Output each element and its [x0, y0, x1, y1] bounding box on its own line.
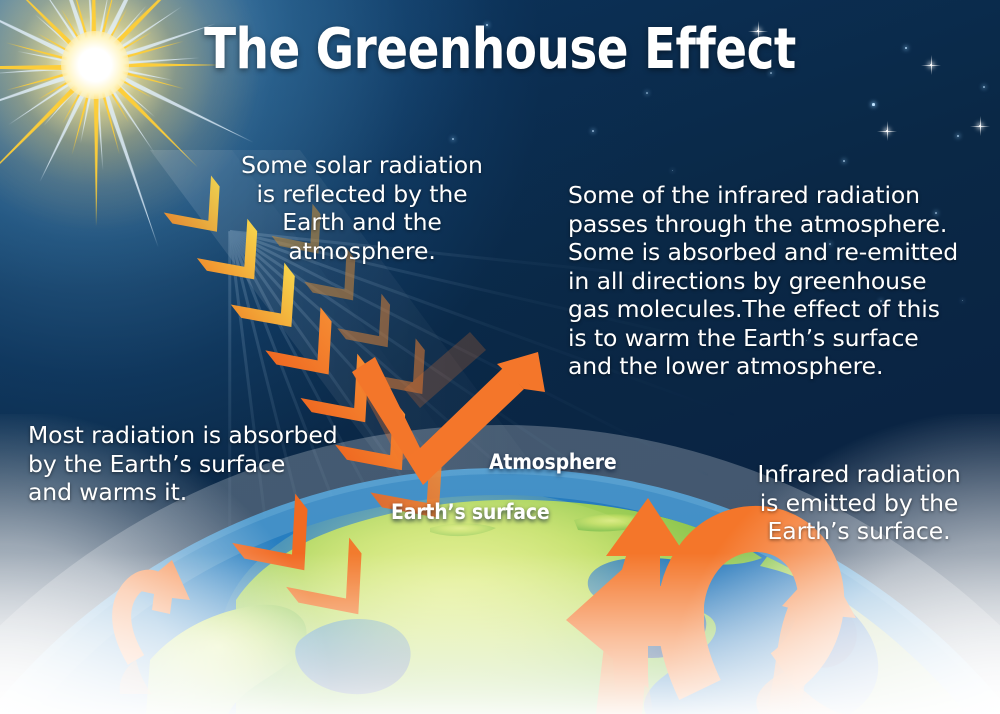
greenhouse-effect-infographic: The Greenhouse Effect Some solar radiati… [0, 0, 1000, 714]
caption-infrared-passes: Some of the infrared radiation passes th… [568, 181, 988, 381]
emitted-arrow-left [120, 560, 190, 694]
caption-infrared-emitted: Infrared radiation is emitted by the Ear… [735, 460, 983, 546]
caption-reflected: Some solar radiation is reflected by the… [197, 151, 527, 265]
emitted-arrow-right [782, 560, 856, 714]
page-title: The Greenhouse Effect [35, 17, 965, 82]
label-atmosphere: Atmosphere [489, 450, 617, 474]
caption-most-absorbed: Most radiation is absorbed by the Earth’… [28, 421, 388, 507]
absorbed-arrow [232, 494, 336, 595]
label-earth-surface: Earth’s surface [391, 500, 549, 524]
